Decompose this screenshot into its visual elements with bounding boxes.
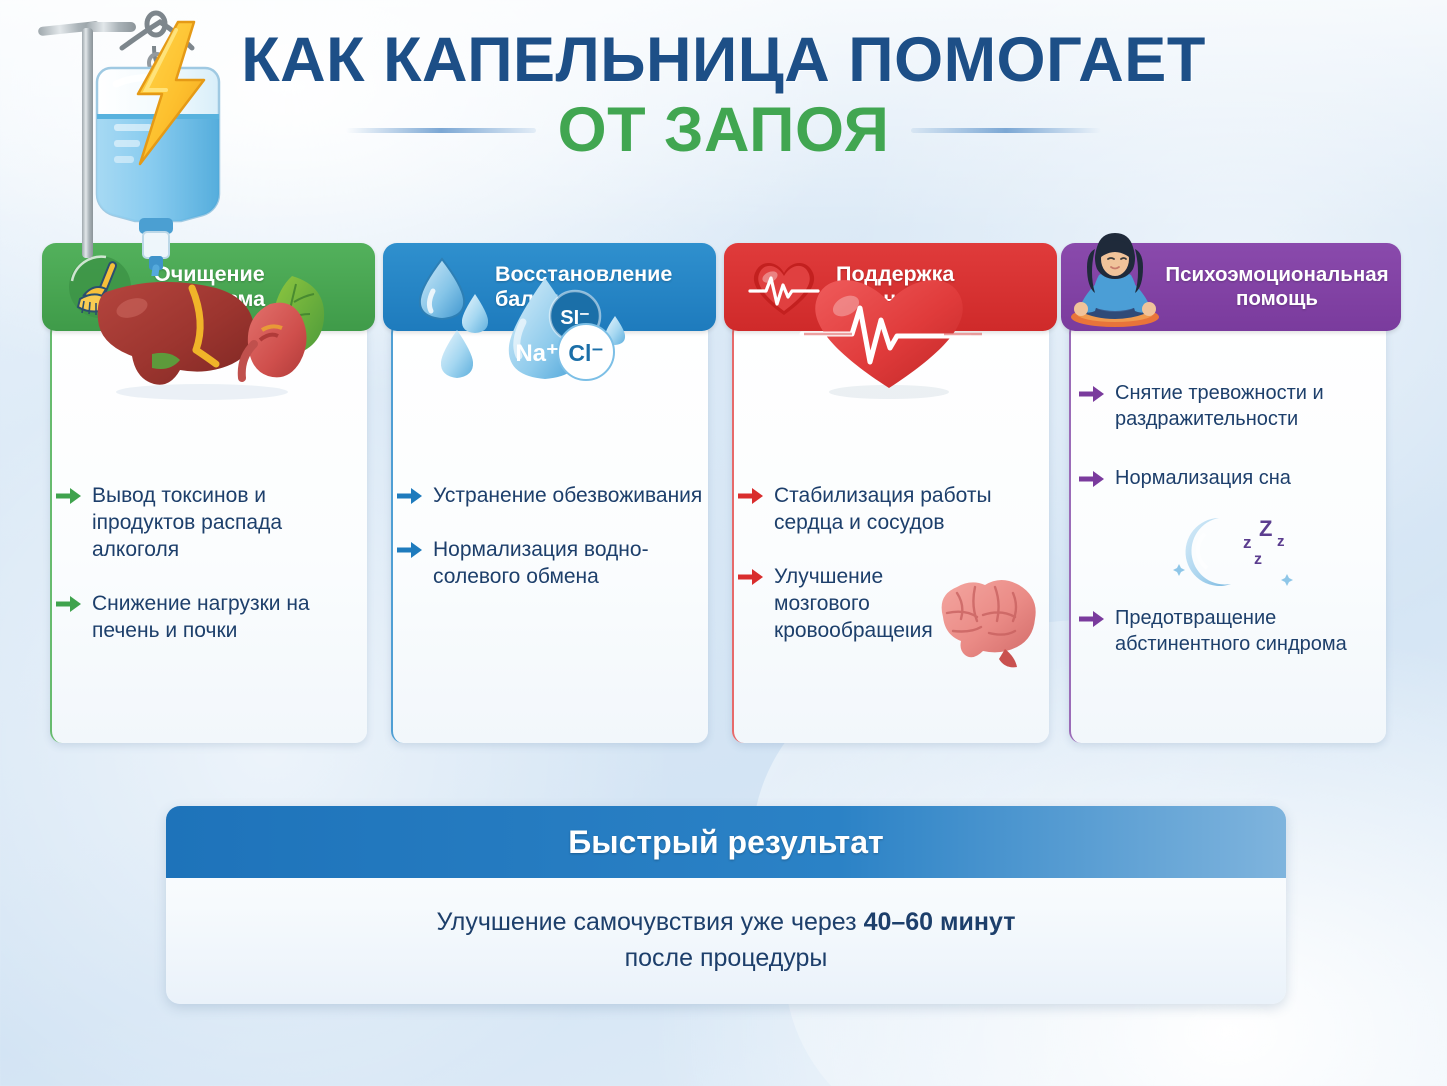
arrow-right-icon [1079,466,1104,492]
card-psycho-title: Психоэмоциональная помощь [1165,263,1389,311]
card-balance[interactable]: Восстановление баланса [383,243,716,743]
result-banner-second-line: после процедуры [166,940,1286,976]
list-item: Стабилизация работы сердца и сосудов [738,483,1047,537]
bullet-label: Стабилизация работы сердца и сосудов [774,483,1047,537]
list-item: Нормализация сна [1079,466,1388,492]
arrow-right-icon [397,483,422,510]
result-banner[interactable]: Быстрый результат Улучшение самочувствия… [166,806,1286,1004]
card-psycho-header: Психоэмоциональная помощь [1061,243,1401,331]
svg-text:z: z [1277,533,1285,550]
list-item: Улучшение мозгового кровообращеιия [738,564,1047,645]
list-item: Вывод токсинов и іпродуктов распада алко… [56,483,365,564]
page-title-line2: ОТ ЗАПОЯ [558,98,890,162]
result-highlight: 40–60 минут [864,908,1016,936]
card-psycho[interactable]: Психоэмоциональная помощь [1065,243,1398,743]
arrow-right-icon [397,537,422,591]
card-cleansing[interactable]: Очищение организма [42,243,375,743]
liver-kidney-leaf-icon [42,259,375,409]
ion-label-cl: Cl⁻ [568,340,603,366]
water-drops-electrolytes-icon: SI⁻ Cl⁻ Na⁺ [383,259,716,409]
bullet-label: Нормализация сна [1115,466,1291,492]
card-organs-bullets: Стабилизация работы сердца и сосудов Улу… [738,483,1047,671]
bullet-label: Вывод токсинов и іпродуктов распада алко… [92,483,365,564]
result-text-before: Улучшение самочувствия уже через [437,908,864,936]
ion-label-na: Na⁺ [515,340,558,367]
arrow-right-icon [56,591,81,645]
decorative-rule-right [911,128,1101,133]
heart-ecg-icon [724,259,1057,409]
svg-text:z: z [1254,551,1262,568]
result-banner-header: Быстрый результат [166,806,1286,878]
bullet-label: Снижение нагрузки на печень и почки [92,591,365,645]
bullet-label: Предотвращение абстинентного синдрома [1115,606,1388,657]
card-balance-bullets: Устранение обезвоживания Нормализация во… [397,483,706,618]
moon-zzz-icon: Z z z z [1079,498,1388,606]
list-item: Устранение обезвоживания [397,483,706,510]
benefit-cards-row: Очищение организма [42,243,1414,743]
svg-text:Z: Z [1259,516,1272,541]
arrow-right-icon [1079,381,1104,432]
arrow-right-icon [738,483,763,537]
lightning-bolt-icon [124,18,216,168]
list-item: Нормализация водно-солевого обмена [397,537,706,591]
bullet-label: Устранение обезвоживания [433,483,702,510]
decorative-rule-left [346,128,536,133]
card-cleansing-bullets: Вывод токсинов и іпродуктов распада алко… [56,483,365,671]
result-banner-body: Улучшение самочувствия уже через 40–60 м… [166,878,1286,977]
list-item: Снижение нагрузки на печень и почки [56,591,365,645]
arrow-right-icon [56,483,81,564]
meditating-person-icon [1063,231,1167,331]
bullet-label: Улучшение мозгового кровообращеιия [774,564,950,645]
card-organs[interactable]: Поддержка органов [724,243,1057,743]
list-item: Снятие тревожности и раздражительности [1079,381,1388,432]
svg-text:z: z [1243,533,1252,552]
card-psycho-title-line1: Психоэмоциональная [1165,263,1389,287]
card-psycho-bullets: Снятие тревожности и раздражительности Н… [1079,381,1388,684]
result-banner-text: Улучшение самочувствия уже через 40–60 м… [166,904,1286,940]
card-psycho-title-line2: помощь [1165,287,1389,311]
result-banner-title: Быстрый результат [568,824,883,861]
list-item: Предотвращение абстинентного синдрома [1079,606,1388,657]
arrow-right-icon [738,564,763,645]
bullet-label: Нормализация водно-солевого обмена [433,537,706,591]
arrow-right-icon [1079,606,1104,657]
bullet-label: Снятие тревожности и раздражительности [1115,381,1388,432]
